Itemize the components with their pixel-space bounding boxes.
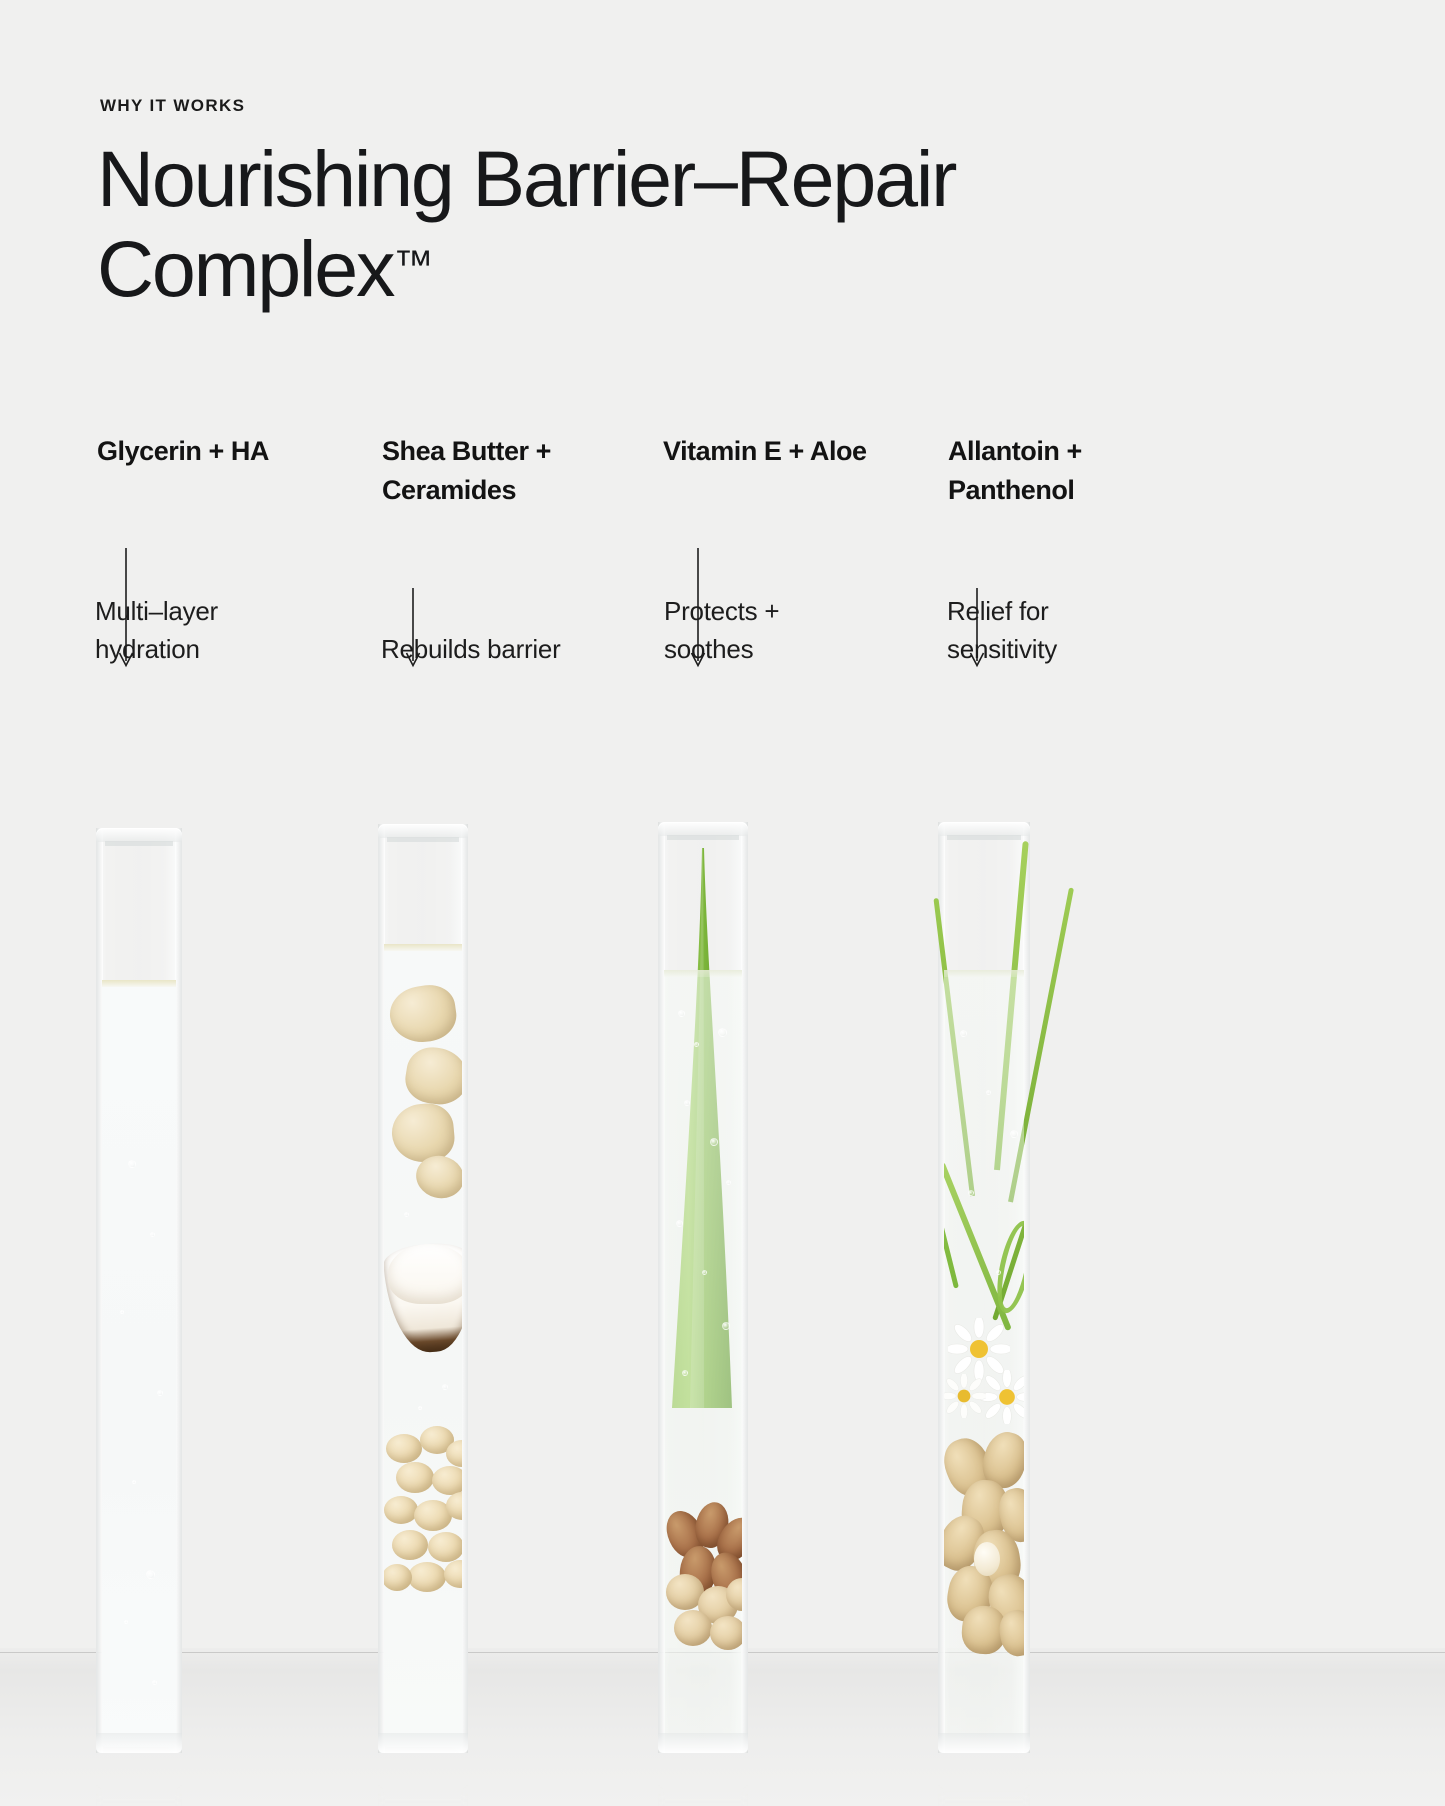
soybean: [432, 1466, 462, 1495]
hazelnut: [710, 1616, 742, 1650]
bubble: [960, 1030, 967, 1037]
bubble: [718, 1028, 727, 1037]
glass-base: [96, 1733, 182, 1753]
ingredient-vial-vitamin-e-aloe: [658, 822, 748, 1753]
product-ingredient-infographic: WHY IT WORKS Nourishing Barrier–Repair C…: [0, 0, 1445, 1806]
liquid-surface: [102, 980, 176, 987]
bubble: [676, 1220, 683, 1227]
headline-line-1: Nourishing Barrier–Repair: [97, 134, 955, 223]
shea-butter-chunk: [386, 982, 459, 1047]
liquid-clear-gel: [384, 944, 462, 1747]
glass-rim: [658, 822, 748, 836]
bubble: [418, 1406, 422, 1410]
coconut-flesh: [388, 1244, 462, 1304]
glass-right-wall: [175, 828, 182, 1753]
glass-right-wall: [1023, 822, 1030, 1753]
ingredient-label: Glycerin + HA: [97, 432, 357, 471]
glass-base: [938, 1733, 1030, 1753]
bubble: [150, 1232, 155, 1237]
bubble: [682, 1370, 688, 1376]
bubble: [1010, 1130, 1018, 1138]
bubble: [694, 1042, 699, 1047]
liquid-clear-gel: [944, 970, 1024, 1747]
liquid-clear-gel: [664, 970, 742, 1747]
bubble: [986, 1090, 991, 1095]
bubble: [128, 1160, 136, 1168]
soybean: [396, 1462, 434, 1493]
soybean: [392, 1530, 428, 1560]
hazelnut: [674, 1610, 712, 1646]
ingredient-column-vitamin-e-aloe: Vitamin E + Aloe: [663, 432, 933, 471]
headline-line-2: Complex: [97, 224, 393, 313]
liquid-surface: [664, 970, 742, 977]
chamomile-flower: [944, 1374, 986, 1418]
chamomile-flower: [980, 1370, 1024, 1424]
shea-butter-chunk: [402, 1043, 462, 1108]
liquid-surface: [944, 970, 1024, 977]
shea-butter-chunk: [390, 1101, 457, 1164]
bubble: [120, 1310, 124, 1314]
glass-inner-rim: [387, 837, 459, 842]
glass-rim: [378, 824, 468, 838]
ingredient-label: Vitamin E + Aloe: [663, 432, 933, 471]
glass-inner-rim: [947, 835, 1021, 840]
ingredient-label: Allantoin + Panthenol: [948, 432, 1218, 510]
ingredient-column-allantoin-panthenol: Allantoin + Panthenol: [948, 432, 1218, 510]
bubble: [968, 1190, 974, 1196]
soybean: [384, 1496, 418, 1524]
glass-right-wall: [741, 822, 748, 1753]
bubble: [678, 1010, 685, 1017]
ingredient-vial-glycerin-ha: [96, 828, 182, 1753]
bubble: [442, 1384, 448, 1390]
glass-base: [658, 1733, 748, 1753]
bubble: [722, 1322, 730, 1330]
glass-right-wall: [461, 824, 468, 1753]
soybean: [386, 1434, 422, 1463]
soybean: [444, 1560, 462, 1588]
soybean: [428, 1532, 462, 1562]
bubble: [157, 1390, 163, 1396]
liquid-surface: [384, 944, 462, 951]
peanut-kernel: [974, 1542, 1000, 1576]
bubble: [132, 1480, 136, 1484]
ingredient-benefit: Rebuilds barrier: [381, 630, 651, 668]
ingredient-column-glycerin-ha: Glycerin + HA: [97, 432, 357, 471]
bubble: [404, 1212, 409, 1217]
ingredient-benefit: Multi–layer hydration: [95, 592, 345, 668]
bubble: [996, 1270, 1001, 1275]
eyebrow-label: WHY IT WORKS: [100, 96, 245, 116]
ingredient-label: Shea Butter + Ceramides: [382, 432, 652, 510]
soybean: [384, 1564, 412, 1591]
bubble: [710, 1138, 718, 1146]
ingredient-column-shea-ceramides: Shea Butter + Ceramides: [382, 432, 652, 510]
grass-blade: [944, 996, 959, 1288]
bubble: [146, 1570, 155, 1579]
bubble: [124, 1620, 128, 1624]
ingredient-vial-shea-ceramides: [378, 824, 468, 1753]
glass-inner-rim: [667, 835, 739, 840]
glass-rim: [96, 828, 182, 842]
liquid-clear-gel: [102, 980, 176, 1747]
bubble: [726, 1180, 731, 1185]
page-title: Nourishing Barrier–Repair Complex™: [97, 136, 1097, 312]
trademark-symbol: ™: [393, 243, 433, 287]
ingredient-benefit: Relief for sensitivity: [947, 592, 1197, 668]
glass-base: [378, 1733, 468, 1753]
ingredient-vial-allantoin-panthenol: [938, 822, 1030, 1753]
bubble: [684, 1100, 690, 1106]
bubble: [702, 1270, 707, 1275]
soybean: [408, 1562, 446, 1592]
ingredient-benefit: Protects + soothes: [664, 592, 914, 668]
bubble: [152, 1680, 157, 1685]
glass-inner-rim: [105, 841, 173, 846]
glass-rim: [938, 822, 1030, 836]
